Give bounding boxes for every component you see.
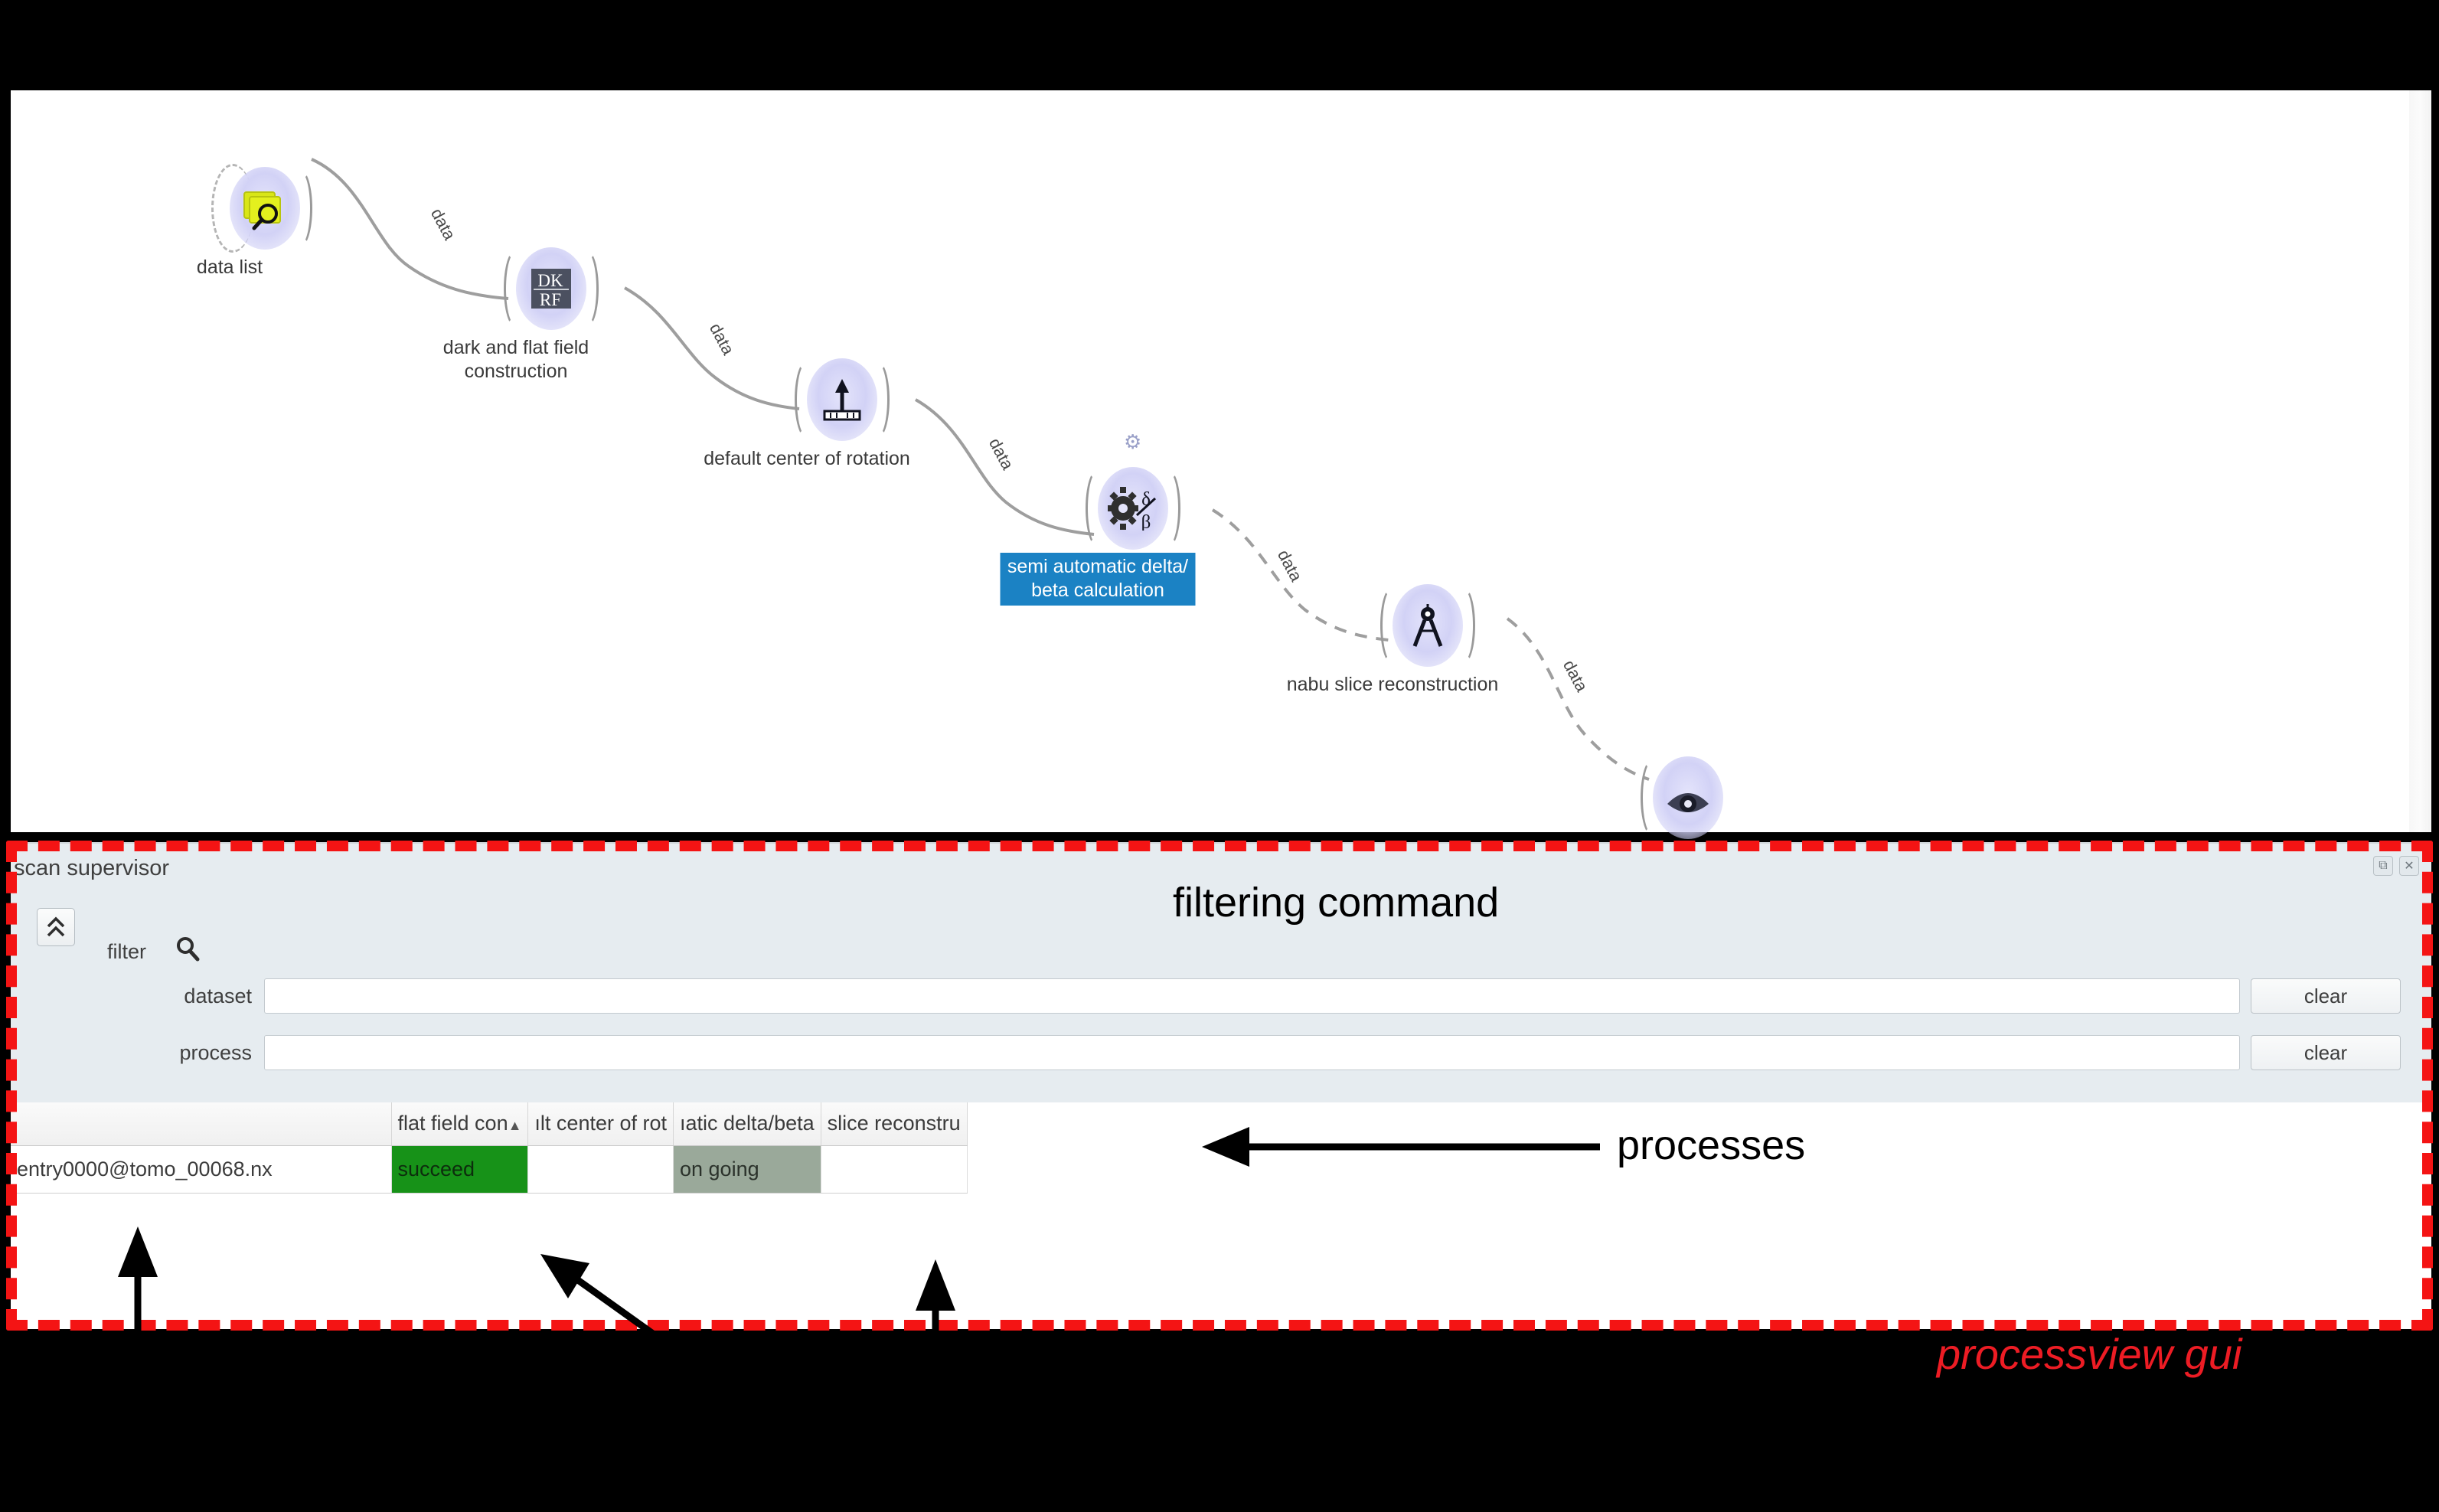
dataset-clear-button[interactable]: clear [2251,978,2401,1014]
table-cell-dataset-name[interactable]: entry0000@tomo_00068.nx [11,1145,391,1193]
dock-button-group: ⧉ ✕ [2373,856,2419,876]
table-cell-slice-recon-status[interactable] [821,1145,967,1193]
filter-row-label: dataset [184,985,252,1008]
annotation-processview-gui: processview gui [1937,1329,2241,1379]
table-cell-delta-beta-status[interactable]: on going [674,1145,821,1193]
compass-icon [1393,584,1463,667]
gear-delta-beta-icon: δ β [1098,467,1168,550]
annotation-processes: processes [1617,1122,1805,1169]
svg-text:RF: RF [540,290,561,309]
canvas-vertical-scrollbar[interactable] [2409,90,2431,832]
workflow-node-label: nabu slice reconstruction [1287,673,1499,697]
workflow-node-label: dark and flat field construction [443,336,589,384]
workflow-canvas[interactable]: data list data DK RF dark and flat field… [11,90,2409,832]
workflow-node-label: default center of rotation [704,447,910,471]
process-status-table-wrap[interactable]: flat field con▲ ılt center of rot ıatic … [11,1102,2431,1329]
table-header-flat-field-text: flat field con [398,1112,508,1135]
table-row[interactable]: entry0000@tomo_00068.nx succeed on going [11,1145,967,1193]
svg-text:DK: DK [537,271,563,290]
table-header-flat-field[interactable]: flat field con▲ [391,1102,528,1145]
search-icon [175,936,201,965]
sort-ascending-icon: ▲ [508,1118,522,1133]
screenshot-root: data list data DK RF dark and flat field… [0,0,2439,1512]
table-header-row: flat field con▲ ılt center of rot ıatic … [11,1102,967,1145]
workflow-edges [11,90,2409,832]
table-header-center-rot[interactable]: ılt center of rot [528,1102,674,1145]
eye-icon [1653,756,1723,839]
collapse-filter-button[interactable] [37,908,75,946]
panel-title: scan supervisor [14,856,169,881]
spinner-icon: ⚙ [1124,430,1141,454]
workflow-node-label: data list [197,256,263,279]
process-clear-button[interactable]: clear [2251,1035,2401,1070]
table-cell-center-rot-status[interactable] [528,1145,674,1193]
filter-row-label: process [179,1041,252,1065]
table-header-slice-recon[interactable]: slice reconstru [821,1102,967,1145]
up-arrow-ruler-icon [807,358,877,441]
table-header-delta-beta[interactable]: ıatic delta/beta [674,1102,821,1145]
workflow-node-label-selected: semi automatic delta/ beta calculation [1001,553,1196,606]
svg-text:β: β [1141,512,1151,531]
filter-row-process: process [264,1035,2240,1070]
dkrf-icon: DK RF [516,247,586,330]
process-status-table[interactable]: flat field con▲ ılt center of rot ıatic … [11,1102,968,1194]
filter-label: filter [107,940,146,964]
double-chevron-up-icon [45,916,67,939]
table-cell-flat-field-status[interactable]: succeed [391,1145,528,1193]
table-header-name[interactable] [11,1102,391,1145]
undock-button[interactable]: ⧉ [2373,856,2393,876]
filter-row-dataset: dataset [264,978,2240,1014]
close-button[interactable]: ✕ [2399,856,2419,876]
annotation-filtering-command: filtering command [1173,879,1499,926]
folder-search-icon [230,167,300,250]
process-filter-input[interactable] [264,1035,2240,1070]
dataset-filter-input[interactable] [264,978,2240,1014]
